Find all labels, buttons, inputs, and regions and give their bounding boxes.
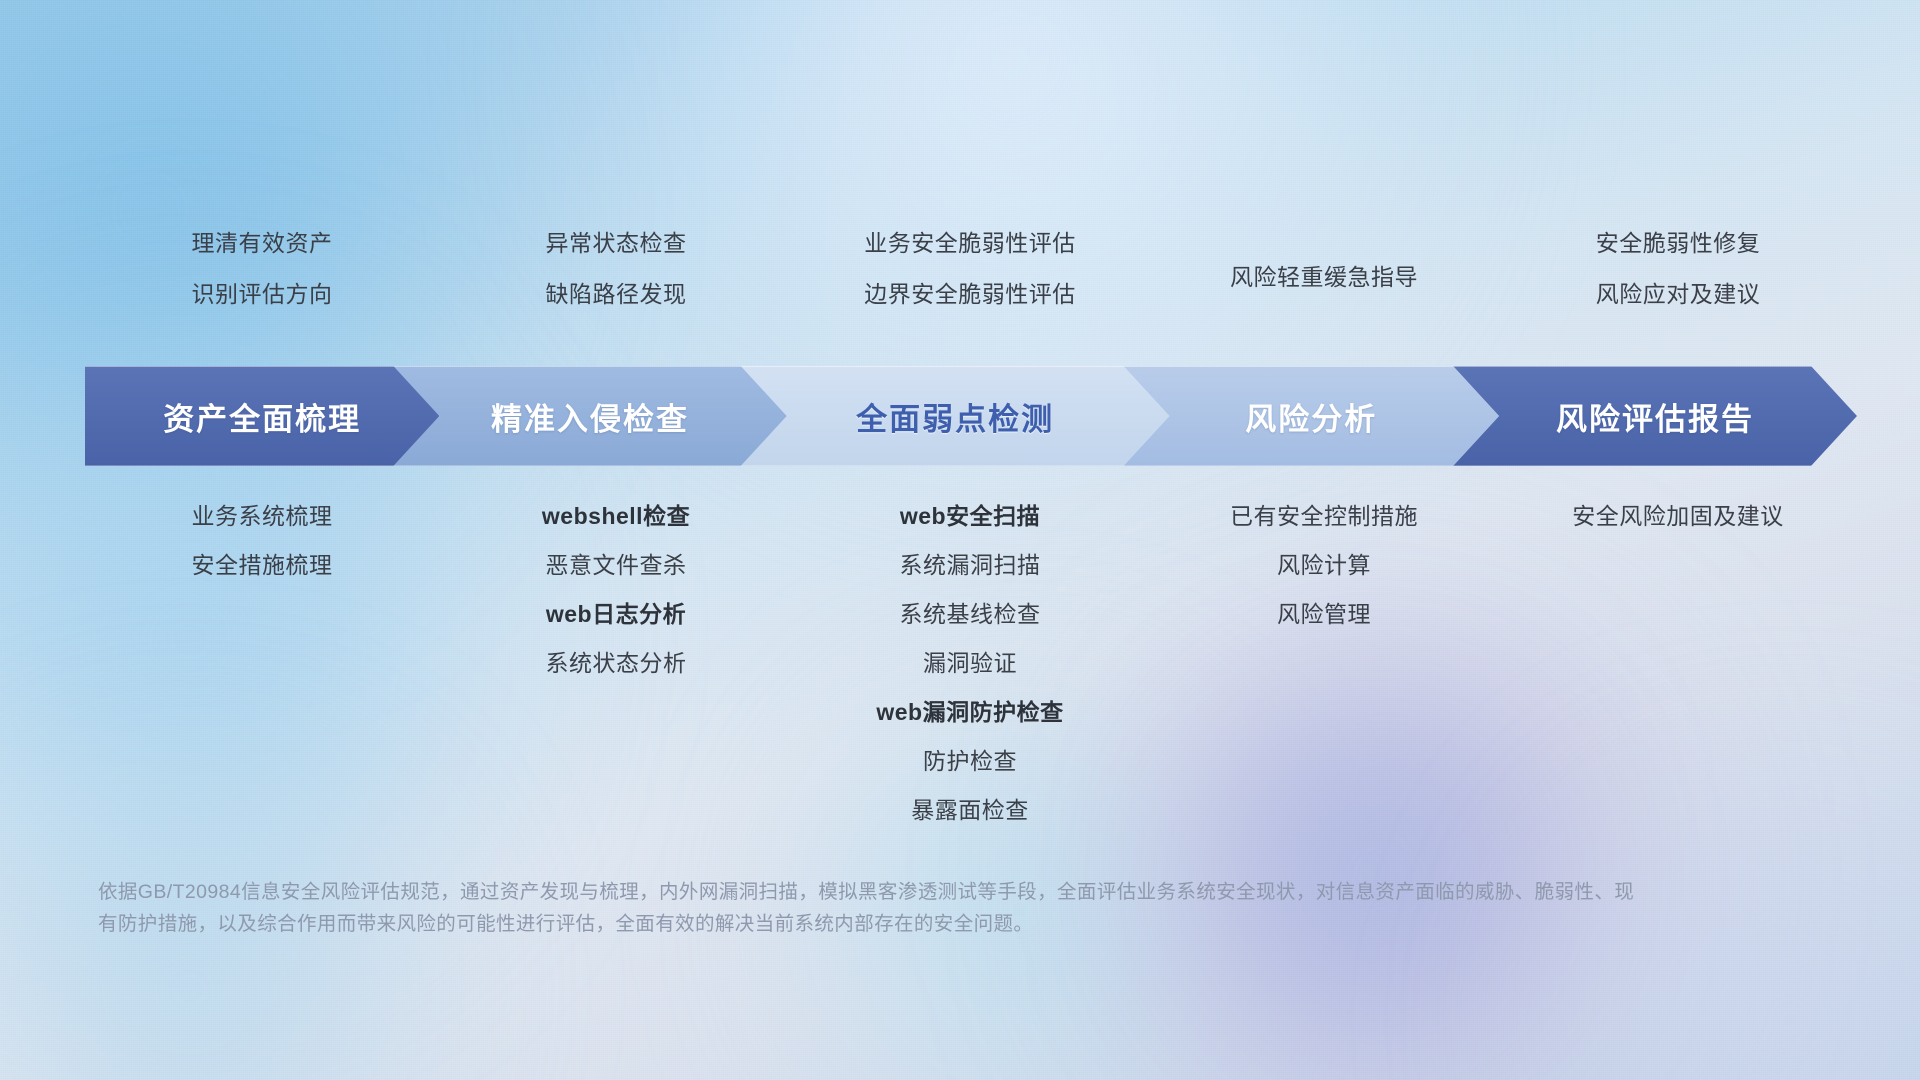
stage-top-label: 异常状态检查 <box>546 232 687 255</box>
process-stage-weakness-detection[interactable]: 全面弱点检测 <box>741 366 1170 466</box>
stage-bottom-label: webshell检查 <box>542 505 690 528</box>
stage-top-label: 缺陷路径发现 <box>546 283 687 306</box>
stage-top-label: 理清有效资产 <box>192 232 333 255</box>
stage-bottom-label: 安全风险加固及建议 <box>1572 505 1784 528</box>
process-stage-label: 风险分析 <box>1245 394 1377 439</box>
stage-top-labels-asset-inventory: 理清有效资产识别评估方向 <box>85 232 439 334</box>
stage-bottom-label: 风险管理 <box>1277 603 1371 626</box>
stage-bottom-label: web安全扫描 <box>900 505 1040 528</box>
stage-top-labels-weakness-detection: 业务安全脆弱性评估边界安全脆弱性评估 <box>793 232 1147 334</box>
stage-top-label: 风险应对及建议 <box>1596 283 1761 306</box>
process-stage-label: 资产全面梳理 <box>163 394 361 439</box>
stage-top-label: 业务安全脆弱性评估 <box>864 232 1076 255</box>
stage-bottom-label: 系统漏洞扫描 <box>900 554 1041 577</box>
stage-top-label: 边界安全脆弱性评估 <box>864 283 1076 306</box>
stage-bottom-labels-assessment-report: 安全风险加固及建议 <box>1501 505 1855 554</box>
stage-bottom-labels-asset-inventory: 业务系统梳理安全措施梳理 <box>85 505 439 603</box>
stage-bottom-label: web漏洞防护检查 <box>876 701 1063 724</box>
stage-bottom-label: 系统基线检查 <box>900 603 1041 626</box>
stage-top-label: 安全脆弱性修复 <box>1596 232 1761 255</box>
stage-bottom-label: 已有安全控制措施 <box>1230 505 1418 528</box>
stage-bottom-label: 防护检查 <box>923 750 1017 773</box>
stage-top-label: 风险轻重缓急指导 <box>1230 266 1418 289</box>
process-stage-intrusion-check[interactable]: 精准入侵检查 <box>393 366 786 466</box>
stage-bottom-label: 业务系统梳理 <box>192 505 333 528</box>
stage-top-labels-assessment-report: 安全脆弱性修复风险应对及建议 <box>1501 232 1855 334</box>
stage-top-label: 识别评估方向 <box>192 283 333 306</box>
footer-description: 依据GB/T20984信息安全风险评估规范，通过资产发现与梳理，内外网漏洞扫描，… <box>98 877 1638 940</box>
stage-bottom-label: 安全措施梳理 <box>192 554 333 577</box>
stage-top-labels-intrusion-check: 异常状态检查缺陷路径发现 <box>439 232 793 334</box>
process-stage-label: 全面弱点检测 <box>856 394 1054 439</box>
process-stage-label: 风险评估报告 <box>1556 394 1754 439</box>
stage-bottom-label: 系统状态分析 <box>546 652 687 675</box>
stage-bottom-label: web日志分析 <box>546 603 686 626</box>
stage-bottom-label: 恶意文件查杀 <box>546 554 687 577</box>
stage-top-labels-risk-analysis: 风险轻重缓急指导 <box>1147 232 1501 317</box>
stage-bottom-label: 风险计算 <box>1277 554 1371 577</box>
stage-bottom-labels-weakness-detection: web安全扫描系统漏洞扫描系统基线检查漏洞验证web漏洞防护检查防护检查暴露面检… <box>793 505 1147 848</box>
stage-bottom-label: 漏洞验证 <box>923 652 1017 675</box>
stage-bottom-labels-intrusion-check: webshell检查恶意文件查杀web日志分析系统状态分析 <box>439 505 793 701</box>
process-stage-risk-analysis[interactable]: 风险分析 <box>1123 366 1499 466</box>
process-chevron-band: 资产全面梳理精准入侵检查全面弱点检测风险分析风险评估报告 <box>85 366 1857 466</box>
stage-bottom-label: 暴露面检查 <box>911 799 1029 822</box>
stage-bottom-labels-risk-analysis: 已有安全控制措施风险计算风险管理 <box>1147 505 1501 652</box>
process-stage-assessment-report[interactable]: 风险评估报告 <box>1453 366 1857 466</box>
stage-bottom-labels-row: 业务系统梳理安全措施梳理webshell检查恶意文件查杀web日志分析系统状态分… <box>85 505 1855 835</box>
process-stage-asset-inventory[interactable]: 资产全面梳理 <box>85 366 439 466</box>
process-stage-label: 精准入侵检查 <box>491 394 689 439</box>
stage-top-labels-row: 理清有效资产识别评估方向异常状态检查缺陷路径发现业务安全脆弱性评估边界安全脆弱性… <box>85 232 1855 342</box>
